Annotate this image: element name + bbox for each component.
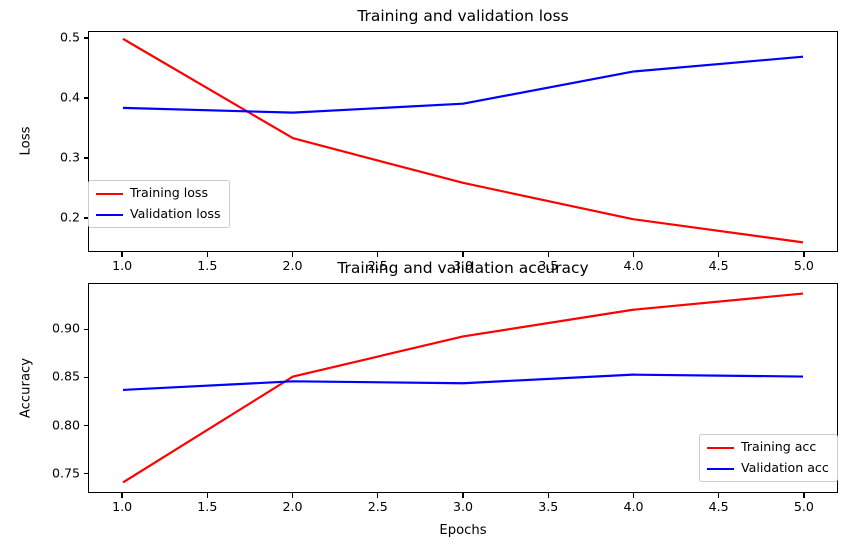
x-tick-mark [292,252,293,257]
x-tick-mark [207,493,208,498]
x-tick-mark [121,493,122,498]
x-tick-label: 3.5 [538,501,558,514]
legend-item: Validation acc [707,461,829,476]
x-tick-mark [377,252,378,257]
x-tick-mark [548,252,549,257]
x-tick-label: 5.0 [794,501,814,514]
y-tick-label: 0.80 [42,419,80,432]
legend-swatch-validation-loss [96,214,123,216]
y-tick-label: 0.90 [42,323,80,336]
x-tick-mark [803,252,804,257]
series-line-validation-acc [123,375,803,390]
loss-chart-title: Training and validation loss [88,9,838,25]
y-tick-label: 0.2 [42,212,80,225]
y-tick-mark [84,329,89,330]
legend-item: Validation loss [96,207,221,222]
x-tick-label: 4.0 [623,501,643,514]
y-tick-mark [84,425,89,426]
legend-swatch-validation-acc [707,468,734,470]
x-tick-mark [292,493,293,498]
y-tick-mark [84,37,89,38]
legend-swatch-training-loss [96,193,123,195]
accuracy-chart-title: Training and validation accuracy [88,261,838,277]
x-tick-mark [633,252,634,257]
y-tick-label: 0.3 [42,152,80,165]
accuracy-chart-ylabel: Accuracy [19,358,32,418]
x-tick-mark [803,493,804,498]
matplotlib-figure: Training and validation loss Loss 1.01.5… [0,0,855,547]
x-tick-mark [462,493,463,498]
y-tick-mark [84,473,89,474]
series-line-validation-loss [123,57,803,113]
x-tick-mark [548,493,549,498]
y-tick-label: 0.5 [42,32,80,45]
legend-label-validation-acc: Validation acc [741,462,829,475]
x-tick-label: 2.0 [283,501,303,514]
legend-label-training-acc: Training acc [741,441,816,454]
loss-chart-ylabel: Loss [19,127,32,156]
legend-label-training-loss: Training loss [130,187,208,200]
x-tick-mark [462,252,463,257]
loss-chart-legend: Training loss Validation loss [88,180,230,228]
accuracy-chart-xlabel: Epochs [439,524,486,537]
x-tick-mark [377,493,378,498]
x-tick-mark [207,252,208,257]
legend-swatch-training-acc [707,447,734,449]
y-tick-mark [84,377,89,378]
legend-item: Training acc [707,440,829,455]
x-tick-mark [633,493,634,498]
legend-label-validation-loss: Validation loss [130,208,221,221]
legend-item: Training loss [96,186,221,201]
y-tick-mark [84,157,89,158]
y-tick-label: 0.75 [42,467,80,480]
x-tick-mark [718,493,719,498]
accuracy-chart-legend: Training acc Validation acc [699,434,838,482]
y-tick-label: 0.4 [42,92,80,105]
x-tick-label: 4.5 [709,501,729,514]
x-tick-label: 1.5 [197,501,217,514]
x-tick-mark [121,252,122,257]
x-tick-mark [718,252,719,257]
x-tick-label: 2.5 [368,501,388,514]
y-tick-label: 0.85 [42,371,80,384]
y-tick-mark [84,97,89,98]
x-tick-label: 1.0 [112,501,132,514]
x-tick-label: 3.0 [453,501,473,514]
